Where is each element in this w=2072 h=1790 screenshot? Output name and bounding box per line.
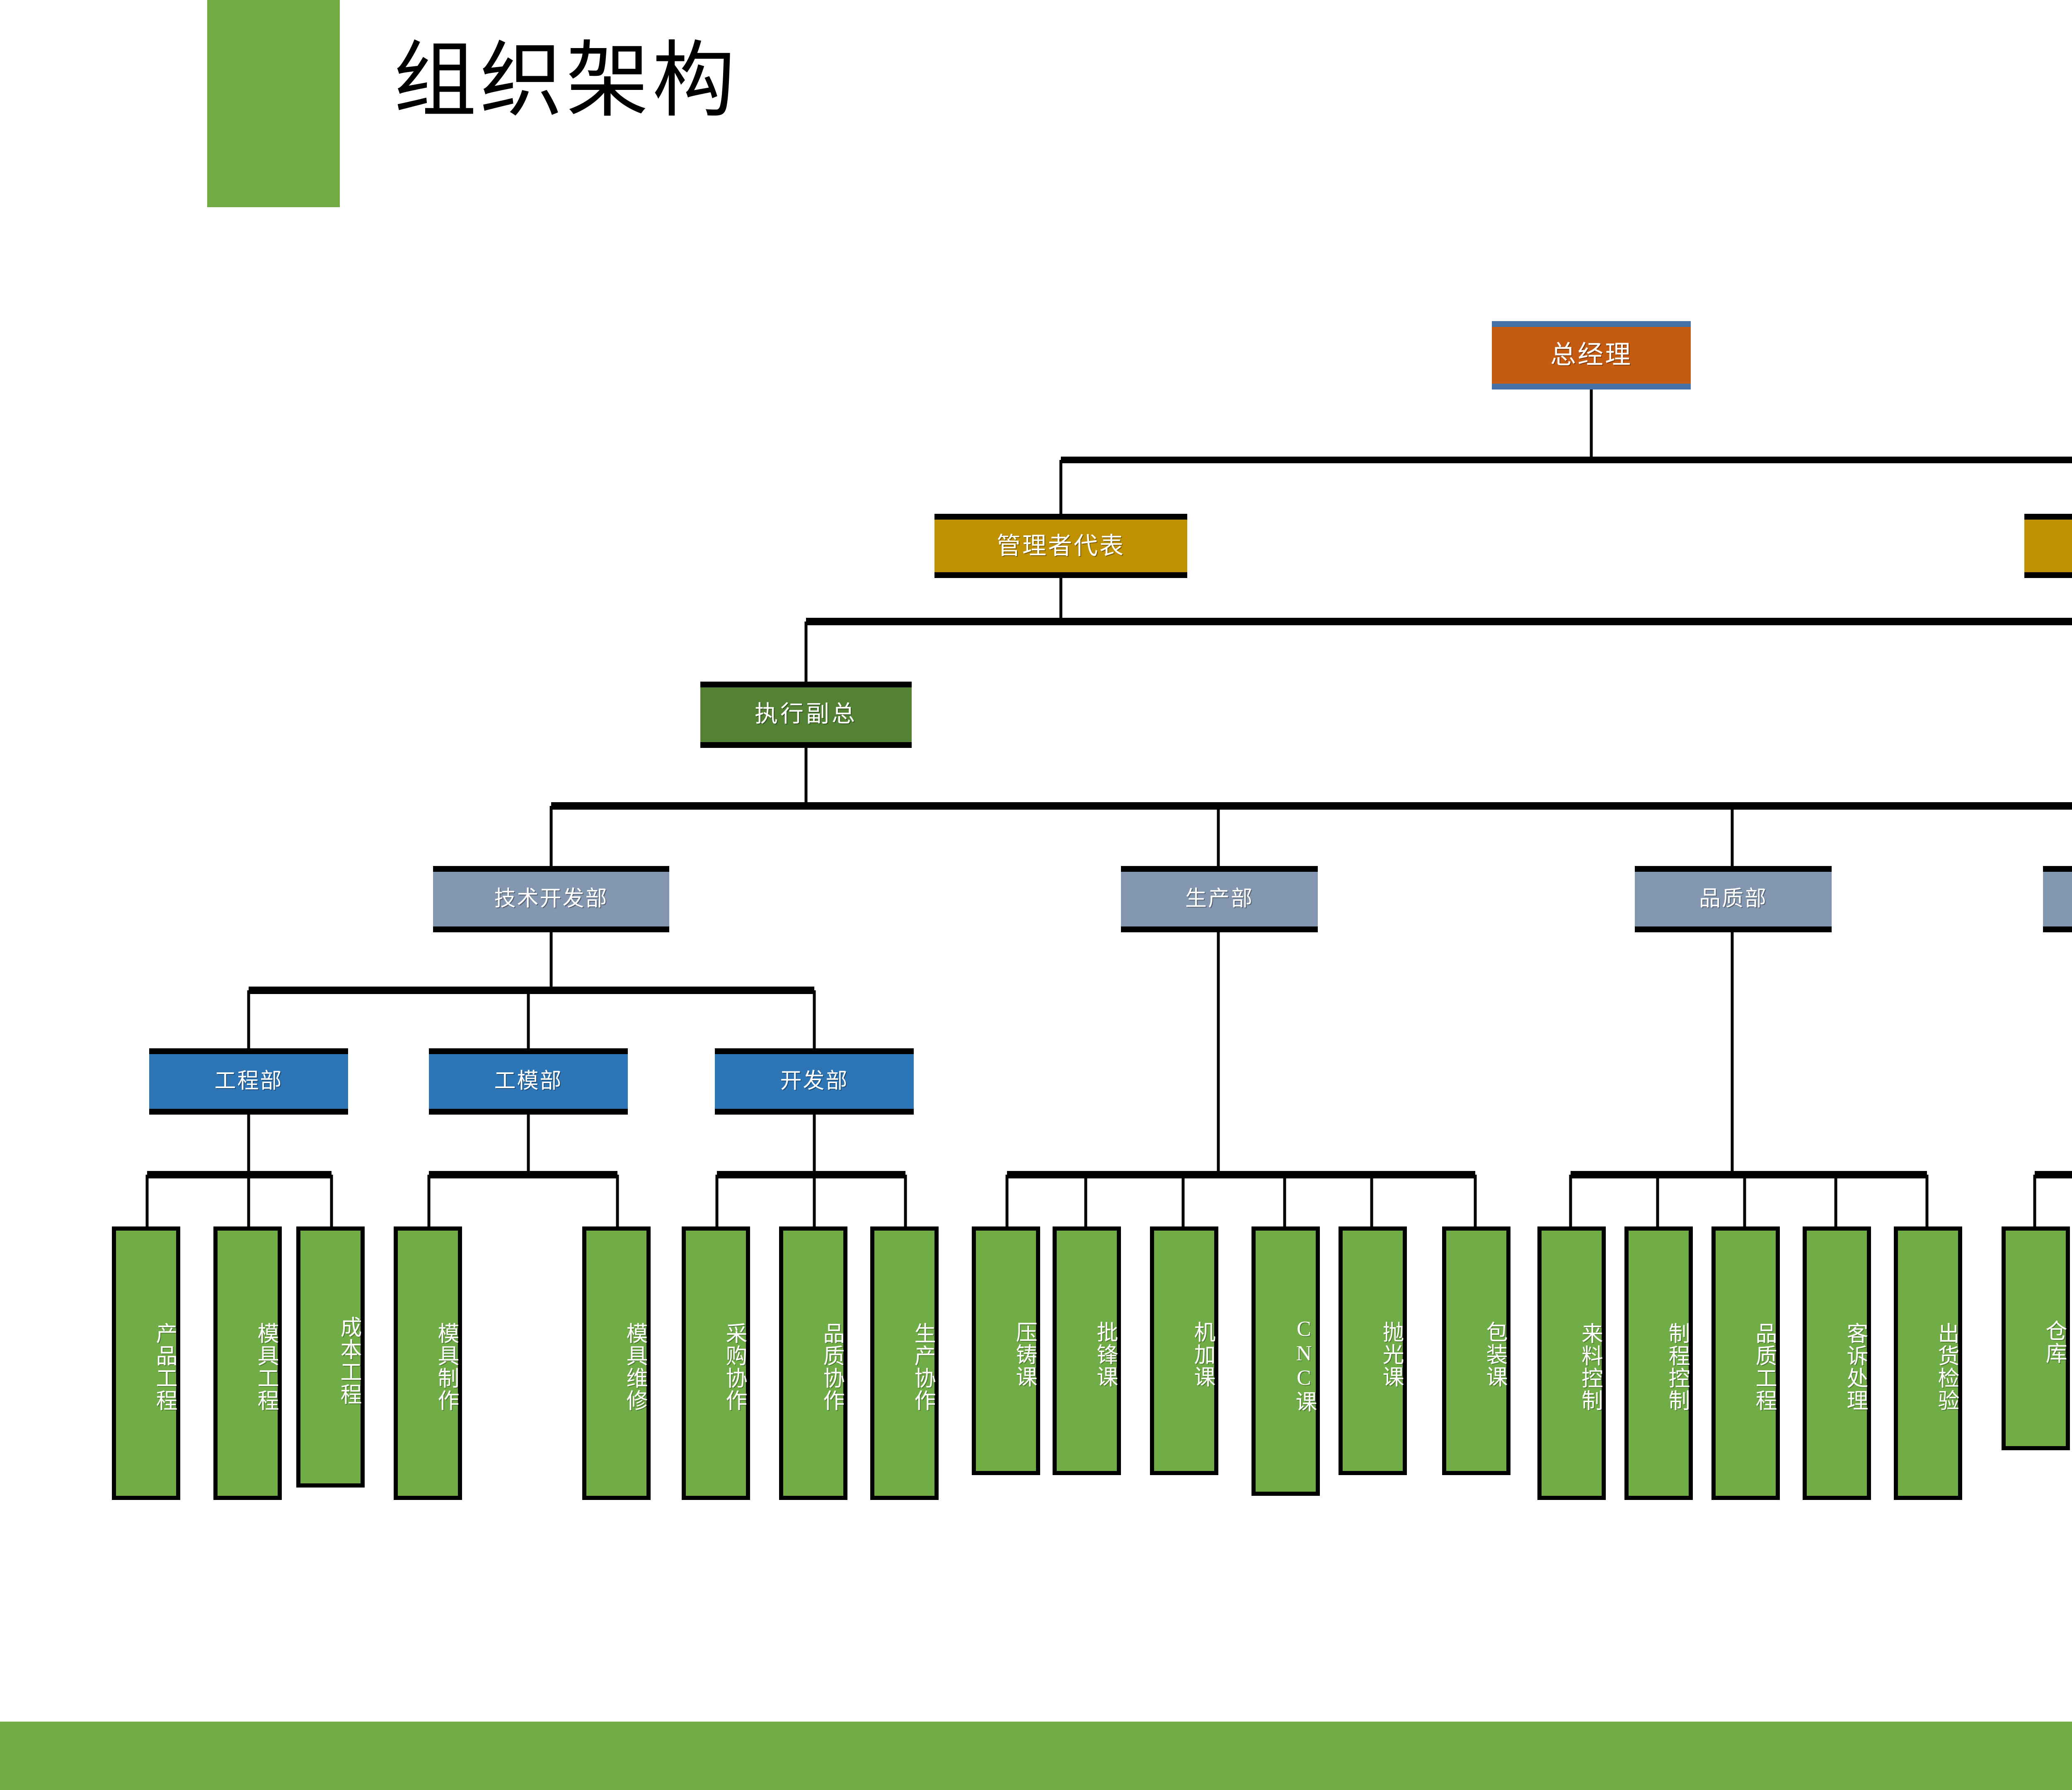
node-management-representative[interactable]: 管理者代表 [934, 514, 1187, 578]
node-label: 品质工程 [1752, 1322, 1776, 1412]
node-executive-vp[interactable]: 执行副总 [700, 682, 912, 748]
node-label: 制程控制 [1665, 1322, 1689, 1412]
node-label: 生产协作 [910, 1322, 934, 1412]
node-label: 压铸课 [1012, 1321, 1036, 1388]
node-label: 工程部 [214, 1070, 283, 1093]
node-quality-dept[interactable]: 品质部 [1635, 866, 1832, 932]
node-label: 管理者代表 [997, 533, 1125, 559]
node-quality-cooperation[interactable]: 品质协作 [779, 1226, 847, 1500]
node-purchasing-cooperation[interactable]: 采购协作 [682, 1226, 750, 1500]
node-cnc-section[interactable]: CNC课 [1251, 1226, 1320, 1496]
node-label: 客诉处理 [1843, 1322, 1867, 1412]
node-cost-engineering[interactable]: 成本工程 [296, 1226, 365, 1488]
node-label: 总经理 [1550, 342, 1632, 369]
node-customer-complaint[interactable]: 客诉处理 [1803, 1226, 1871, 1500]
node-incoming-material-control[interactable]: 来料控制 [1537, 1226, 1606, 1500]
node-label: 模具制作 [434, 1322, 458, 1412]
node-development-dept[interactable]: 开发部 [715, 1048, 914, 1115]
node-label: 执行副总 [755, 702, 857, 727]
node-production-cooperation[interactable]: 生产协作 [870, 1226, 939, 1500]
node-label: 品质协作 [819, 1322, 843, 1412]
node-general-manager[interactable]: 总经理 [1492, 321, 1691, 389]
node-outgoing-inspection[interactable]: 出货检验 [1894, 1226, 1962, 1500]
node-polishing-section[interactable]: 抛光课 [1339, 1226, 1407, 1475]
node-mold-maintenance[interactable]: 模具维修 [582, 1226, 651, 1500]
node-label: CNC课 [1292, 1317, 1316, 1413]
node-process-control[interactable]: 制程控制 [1624, 1226, 1693, 1500]
node-tech-development-dept[interactable]: 技术开发部 [433, 866, 669, 932]
node-tool-mold-dept[interactable]: 工模部 [429, 1048, 628, 1115]
node-label: 包装课 [1482, 1321, 1506, 1388]
node-label: 成本工程 [336, 1316, 361, 1405]
node-label: 模具工程 [254, 1322, 278, 1412]
node-label: 工模部 [494, 1070, 562, 1093]
node-label: 抛光课 [1379, 1321, 1403, 1388]
node-label: 来料控制 [1578, 1322, 1602, 1412]
node-deburring-section[interactable]: 批锋课 [1053, 1226, 1121, 1475]
node-label: 仓库 [2042, 1320, 2066, 1364]
node-product-engineering[interactable]: 产品工程 [112, 1226, 180, 1500]
node-production-dept[interactable]: 生产部 [1121, 866, 1318, 932]
node-quality-engineering[interactable]: 品质工程 [1711, 1226, 1780, 1500]
node-label: 生产部 [1185, 888, 1254, 910]
node-label: 采购协作 [722, 1322, 746, 1412]
node-label: 品质部 [1699, 888, 1767, 910]
node-packaging-section[interactable]: 包装课 [1442, 1226, 1510, 1475]
node-warehouse[interactable]: 仓库 [2002, 1226, 2070, 1450]
node-label: 技术开发部 [494, 888, 608, 910]
node-die-casting-section[interactable]: 压铸课 [972, 1226, 1040, 1475]
node-mold-manufacturing[interactable]: 模具制作 [394, 1226, 462, 1500]
node-mold-engineering[interactable]: 模具工程 [213, 1226, 282, 1500]
node-label: 模具维修 [622, 1322, 646, 1412]
node-label: 机加课 [1190, 1321, 1214, 1388]
node-label: 开发部 [780, 1070, 848, 1093]
node-customer-representative[interactable]: 客户代表 [2024, 514, 2072, 578]
node-machining-section[interactable]: 机加课 [1150, 1226, 1218, 1475]
node-label: 产品工程 [152, 1322, 176, 1412]
node-label: 批锋课 [1093, 1321, 1117, 1388]
node-engineering-dept[interactable]: 工程部 [149, 1048, 348, 1115]
node-label: 出货检验 [1934, 1322, 1958, 1412]
node-pmc-dept[interactable]: PMC部 [2043, 866, 2072, 932]
org-chart: 总经理 管理者代表 客户代表 执行副总 行政副总 营销副总 财务副总 技术开发部… [0, 0, 2072, 1790]
